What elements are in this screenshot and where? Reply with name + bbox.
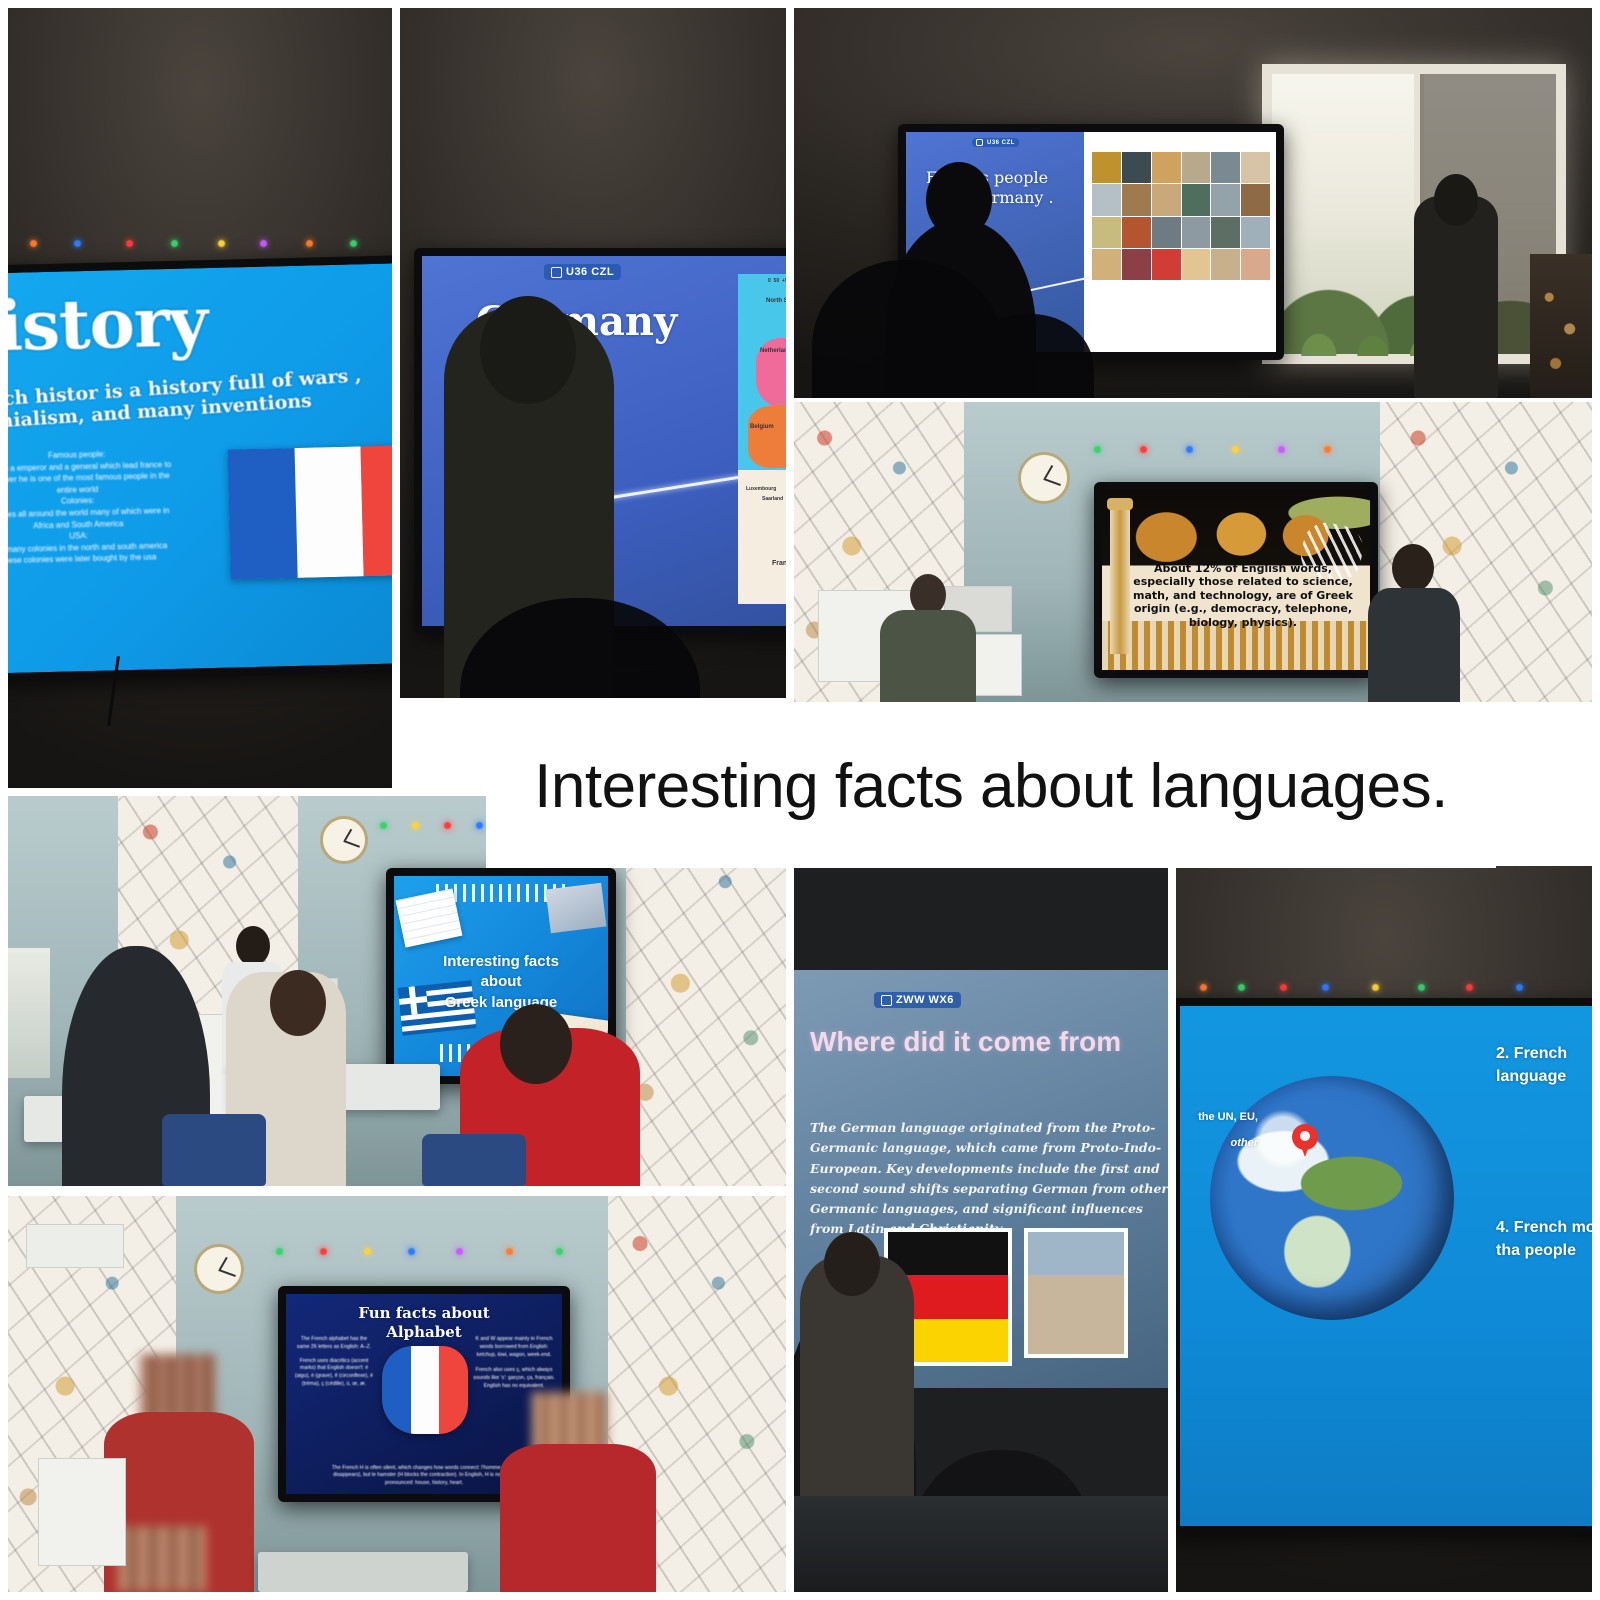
student-red-hoodie	[500, 1444, 656, 1592]
overlay-title: Interesting facts about languages.	[534, 756, 1448, 818]
cabinet	[38, 1458, 126, 1566]
slide-heading: history	[8, 282, 208, 368]
panel-germany-map: U36 CZL Germany 0 50 +50	[400, 8, 786, 698]
slide-text: About 12% of English words, especially t…	[1128, 562, 1358, 629]
string-lights	[8, 1248, 786, 1274]
floor	[794, 1496, 1168, 1592]
desk	[258, 1552, 468, 1592]
window-left	[8, 948, 50, 1078]
slide-greek-words: About 12% of English words, especially t…	[1102, 490, 1370, 670]
panel-german-origin: ZWW WX6 Where did it come from The Germa…	[794, 866, 1168, 1592]
slide-body-text: Famous people: he was a emperor and a ge…	[8, 446, 204, 568]
standing-student	[1414, 196, 1498, 398]
slide-heading: Where did it come from	[810, 1026, 1121, 1058]
student-head	[824, 1232, 880, 1296]
standing-student-head	[1434, 174, 1478, 226]
overlay-title-band: Interesting facts about languages.	[486, 706, 1496, 868]
badge-icon	[551, 267, 562, 278]
slide-fact-4: 4. French more tha people	[1496, 1216, 1592, 1262]
string-lights	[794, 446, 1592, 472]
badge-icon	[881, 995, 892, 1006]
slide-text-fragment: other	[1180, 1136, 1258, 1151]
student-head	[500, 1004, 572, 1084]
student-head	[270, 970, 326, 1036]
wall-tv: About 12% of English words, especially t…	[1094, 482, 1378, 678]
student-head	[1392, 544, 1434, 592]
slide-french-facts: the UN, EU, other 2. French language 4. …	[1180, 1006, 1592, 1526]
greek-column-graphic	[1110, 504, 1130, 654]
slide-subheading: French histor is a history full of wars …	[8, 363, 385, 436]
france-flag-icon	[228, 445, 392, 580]
presenter-head	[480, 296, 576, 404]
badge-icon	[976, 139, 983, 146]
greek-monument-photo	[546, 883, 607, 933]
panel-french-history: history French histor is a history full …	[8, 8, 392, 788]
panel-greek-words: About 12% of English words, especially t…	[794, 402, 1592, 702]
chair	[422, 1134, 526, 1186]
slide-badge: U36 CZL	[544, 264, 621, 280]
wall-tv: the UN, EU, other 2. French language 4. …	[1176, 998, 1592, 1534]
christmas-tree	[1530, 254, 1592, 398]
half-timbered-house-photo	[1024, 1228, 1128, 1358]
wall-tv: history French histor is a history full …	[8, 254, 392, 682]
presenter-head	[236, 926, 270, 966]
slide-bullets-right: K and W appear mainly in French words bo…	[472, 1336, 556, 1391]
slide-body: The German language originated from the …	[810, 1118, 1168, 1240]
pixelated-face	[140, 1354, 216, 1420]
slide-badge: ZWW WX6	[874, 992, 961, 1008]
slide-fact-2: 2. French language	[1496, 1042, 1592, 1088]
slide-badge: U36 CZL	[972, 138, 1019, 147]
air-conditioner	[26, 1224, 124, 1268]
europe-map-graphic: 0 50 +50 North Sea Netherlands Belgium L…	[738, 274, 786, 604]
panel-french-alphabet: Fun facts about Alphabet The French alph…	[8, 1196, 786, 1592]
chair	[162, 1114, 266, 1186]
panel-french-facts-globe: the UN, EU, other 2. French language 4. …	[1176, 866, 1592, 1592]
pixelated-face	[118, 1526, 206, 1592]
famous-people-portrait-grid	[1090, 150, 1272, 282]
greek-alphabet-chart	[396, 888, 463, 947]
student-body	[1368, 588, 1460, 702]
photo-collage: history French histor is a history full …	[0, 0, 1600, 1600]
france-map-graphic	[382, 1346, 468, 1434]
seated-person-body	[880, 610, 976, 702]
panel-famous-people-germany: U36 CZL Famous people from Germany .	[794, 8, 1592, 398]
slide-bullets-left: The French alphabet has the same 26 lett…	[294, 1336, 374, 1389]
slide-heading: Interesting facts about Greek language	[394, 952, 608, 1013]
slide-bullet-bottom: The French H is often silent, which chan…	[324, 1465, 524, 1488]
slide-french-history: history French histor is a history full …	[8, 262, 392, 673]
slide-text-fragment: the UN, EU,	[1180, 1110, 1258, 1125]
map-pin-icon	[1292, 1124, 1318, 1158]
